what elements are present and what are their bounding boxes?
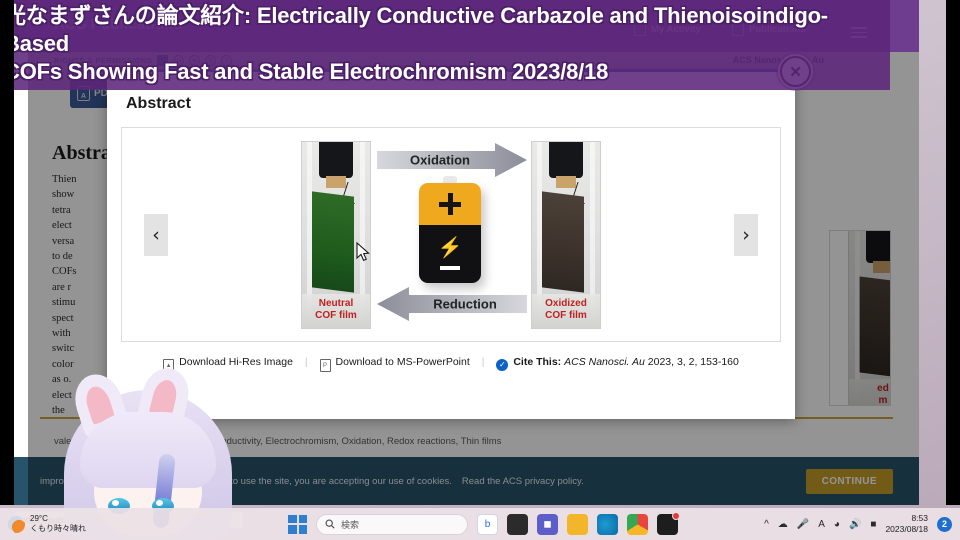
file-explorer-icon[interactable]	[567, 514, 588, 535]
minus-icon	[440, 266, 460, 270]
oxidation-arrow: Oxidation	[377, 143, 527, 177]
task-view-icon[interactable]	[507, 514, 528, 535]
reduction-label: Reduction	[377, 296, 527, 311]
taskbar-clock[interactable]: 8:53 2023/08/18	[885, 513, 928, 535]
obs-icon[interactable]	[657, 514, 678, 535]
microphone-icon[interactable]: 🎤	[797, 519, 809, 530]
cuvette-cap	[319, 142, 353, 178]
oxidation-label: Oxidation	[377, 152, 527, 167]
ime-a-icon[interactable]: A	[818, 519, 825, 530]
weather-icon	[8, 516, 25, 533]
search-placeholder: 検索	[341, 518, 359, 531]
weather-widget[interactable]: 29°C くもり時々晴れ	[8, 514, 86, 534]
clock-time: 8:53	[911, 513, 928, 523]
cite-journal: ACS Nanosci. Au	[564, 356, 645, 368]
reduction-arrow: Reduction	[377, 287, 527, 321]
system-tray: ^ ☁ 🎤 A ◕ 🔊 ■ 8:53 2023/08/18 2	[764, 513, 952, 535]
overlay-title-sep: :	[244, 3, 257, 28]
neutral-film-label: NeutralCOF film	[302, 298, 370, 322]
screen: ACS Publications My Activity Publication…	[0, 0, 960, 540]
wifi-icon[interactable]: ◕	[834, 519, 840, 530]
copilot-icon[interactable]: b	[477, 514, 498, 535]
toc-graphic[interactable]: NeutralCOF film Oxidation	[122, 128, 780, 341]
battery-negative: ⚡	[419, 225, 481, 283]
cuvette-cork	[326, 176, 346, 188]
overlay-title-jp: 光なまずさんの論文紹介	[4, 3, 244, 28]
search-icon	[325, 519, 335, 529]
letterbox-left	[0, 0, 14, 505]
modal-title: Abstract	[126, 95, 191, 113]
figure-viewer: ‹ › Neutr	[121, 127, 781, 342]
volume-icon[interactable]: 🔊	[849, 519, 861, 530]
battery-icon[interactable]: ■	[870, 519, 876, 530]
chevron-right-icon[interactable]: ›	[734, 214, 758, 256]
chevron-left-icon[interactable]: ‹	[144, 214, 168, 256]
battery-positive	[419, 183, 481, 225]
download-powerpoint-link[interactable]: PDownload to MS-PowerPoint	[320, 356, 473, 368]
check-circle-icon: ✓	[496, 359, 508, 371]
chrome-icon[interactable]	[627, 514, 648, 535]
chevron-up-icon[interactable]: ^	[764, 519, 769, 530]
clock-date: 2023/08/18	[885, 524, 928, 534]
overlay-title-line2: COFs Showing Fast and Stable Electrochro…	[4, 59, 608, 84]
powerpoint-file-icon: P	[320, 359, 331, 372]
windows-taskbar: 29°C くもり時々晴れ 検索 b ◼ ^ ☁ 🎤	[0, 508, 960, 540]
oxidized-film	[542, 191, 584, 292]
search-input[interactable]: 検索	[316, 514, 468, 535]
plus-icon	[439, 193, 461, 215]
notification-dot	[672, 512, 680, 520]
onedrive-icon[interactable]: ☁	[778, 519, 788, 530]
weather-desc: くもり時々晴れ	[30, 524, 86, 533]
letterbox-right	[946, 0, 960, 505]
cite-this-block[interactable]: ✓Cite This: ACS Nanosci. Au 2023, 3, 2, …	[496, 356, 739, 368]
cite-reference: 2023, 3, 2, 153-160	[648, 356, 739, 368]
notification-badge[interactable]: 2	[937, 517, 952, 532]
neutral-cof-cuvette: NeutralCOF film	[301, 141, 371, 329]
link-separator-1: |	[305, 356, 308, 368]
taskbar-apps: 検索 b ◼	[288, 514, 678, 535]
windows-start-icon[interactable]	[288, 515, 307, 534]
oxidized-cof-cuvette: OxidizedCOF film	[531, 141, 601, 329]
teams-icon[interactable]: ◼	[537, 514, 558, 535]
oxidized-film-label: OxidizedCOF film	[532, 298, 600, 322]
video-overlay-title: 光なまずさんの論文紹介: Electrically Conductive Car…	[0, 0, 890, 90]
weather-temp: 29°C	[30, 514, 48, 523]
cite-this-label: Cite This:	[513, 356, 561, 368]
neutral-film	[312, 191, 354, 292]
link-separator-2: |	[482, 356, 485, 368]
mouse-cursor	[356, 242, 370, 262]
edge-icon[interactable]	[597, 514, 618, 535]
battery-icon: ⚡	[419, 183, 481, 283]
lightning-bolt-icon: ⚡	[438, 238, 463, 258]
